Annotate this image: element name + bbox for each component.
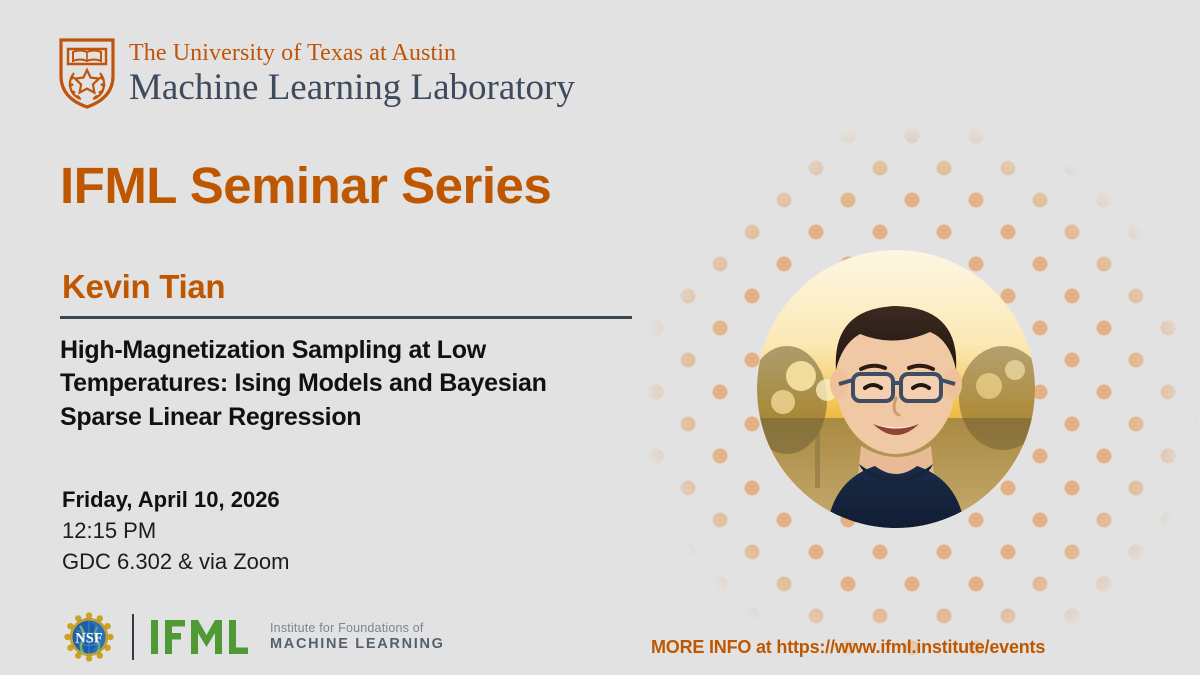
- logo-divider: [132, 614, 134, 660]
- ifml-tagline: Institute for Foundations of MACHINE LEA…: [270, 621, 445, 652]
- talk-title: High-Magnetization Sampling at Low Tempe…: [60, 334, 630, 434]
- lab-name: Machine Learning Laboratory: [129, 69, 575, 106]
- seminar-poster: The University of Texas at Austin Machin…: [0, 0, 1200, 675]
- footer-logo-bar: NSF Institute for Foundations of MACHINE…: [64, 612, 445, 662]
- ut-shield-icon: [57, 36, 117, 110]
- event-time: 12:15 PM: [62, 515, 289, 546]
- event-date: Friday, April 10, 2026: [62, 484, 289, 515]
- speaker-portrait: [757, 250, 1035, 528]
- divider-rule: [60, 316, 632, 319]
- event-details: Friday, April 10, 2026 12:15 PM GDC 6.30…: [62, 484, 289, 578]
- ut-austin-logo: The University of Texas at Austin Machin…: [57, 36, 575, 110]
- event-location: GDC 6.302 & via Zoom: [62, 546, 289, 577]
- nsf-text: NSF: [75, 631, 103, 647]
- nsf-seal-icon: NSF: [64, 612, 114, 662]
- more-info-link[interactable]: MORE INFO at https://www.ifml.institute/…: [651, 637, 1045, 658]
- ut-wordmark: The University of Texas at Austin Machin…: [129, 41, 575, 106]
- ifml-wordmark-icon: [151, 620, 248, 654]
- speaker-name: Kevin Tian: [62, 268, 225, 306]
- university-name: The University of Texas at Austin: [129, 41, 575, 65]
- series-title: IFML Seminar Series: [60, 156, 551, 215]
- tagline-line-1: Institute for Foundations of: [270, 621, 445, 635]
- tagline-line-2: MACHINE LEARNING: [270, 636, 445, 652]
